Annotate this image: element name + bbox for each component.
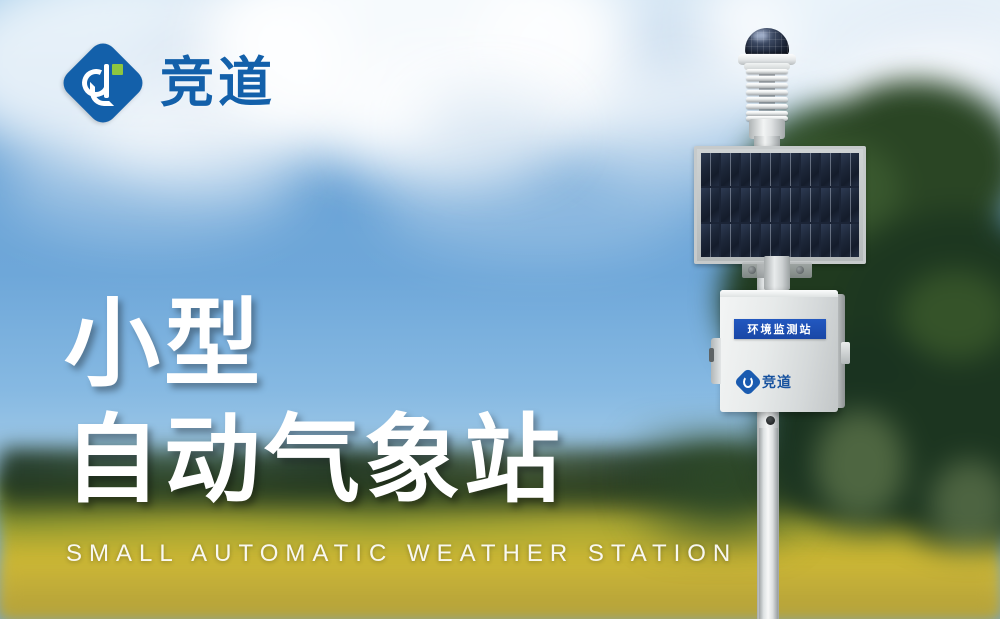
- device-brand-logo: 竞道: [738, 370, 822, 394]
- headline-line-2: 自动气象站: [64, 412, 704, 508]
- mount-bolt-icon: [748, 266, 756, 274]
- jingdao-diamond-logo-icon: [62, 42, 144, 124]
- device-label-band: 环境监测站: [734, 319, 826, 339]
- device-brand-text: 竞道: [762, 372, 792, 392]
- solar-cells: [701, 153, 859, 257]
- cloud-shape: [380, 150, 700, 260]
- brand-name: 竞道: [160, 56, 276, 110]
- product-banner: 环境监测站 竞道 竞道 小型 自动气象站 SMALL AUTOMATIC WEA…: [0, 0, 1000, 619]
- device-label-text: 环境监测站: [748, 324, 813, 335]
- jingdao-diamond-logo-icon: [734, 368, 762, 396]
- mounting-pole-lower: [759, 428, 778, 619]
- radiation-shield-icon: [746, 69, 788, 121]
- panel-mount-bracket: [764, 256, 790, 290]
- enclosure-latch-right-icon: [841, 342, 850, 364]
- ultrasonic-weather-sensor-icon: [734, 28, 800, 148]
- headline-line-1: 小型: [64, 296, 704, 392]
- enclosure-latch-icon: [709, 348, 714, 362]
- control-enclosure-icon: 环境监测站 竞道: [720, 290, 838, 412]
- logo-green-square-icon: [112, 64, 123, 75]
- sensor-dome-highlight: [752, 32, 768, 40]
- headline-subtitle: SMALL AUTOMATIC WEATHER STATION: [66, 540, 737, 568]
- brand-logo[interactable]: 竞道: [62, 42, 276, 124]
- enclosure-top: [720, 290, 838, 297]
- cloud-shape: [0, 130, 300, 240]
- mount-bolt-icon: [796, 266, 804, 274]
- headline-block: 小型 自动气象站: [64, 296, 704, 508]
- cable-gland-icon: [766, 416, 775, 425]
- solar-panel-icon: [694, 146, 866, 264]
